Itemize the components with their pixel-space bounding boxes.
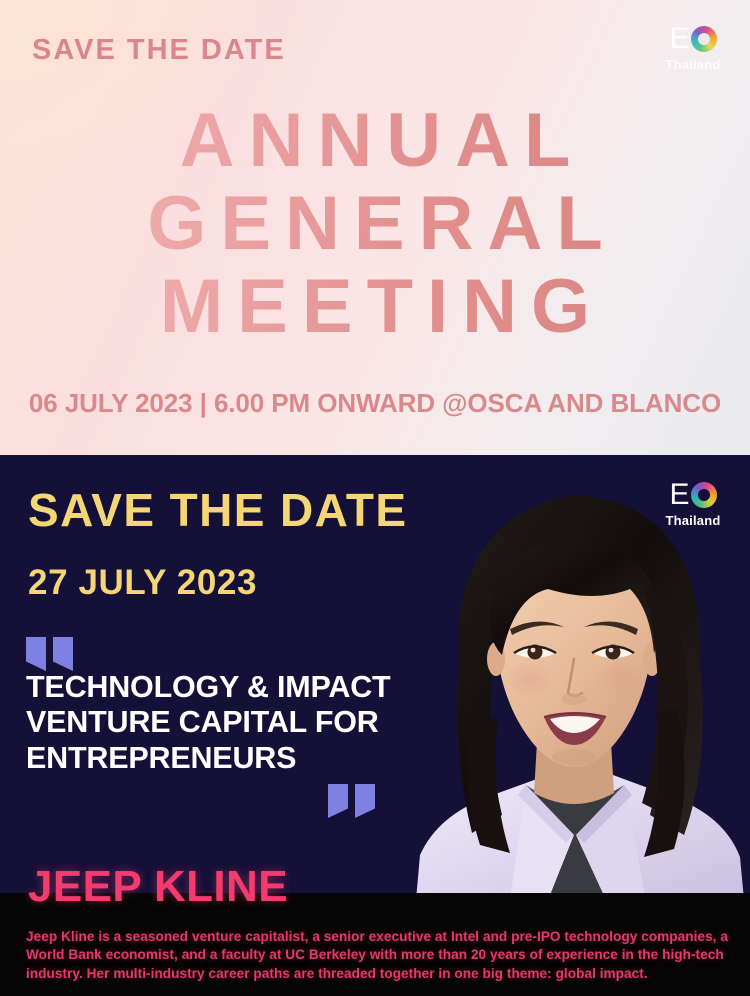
talk-title-line-2: VENTURE CAPITAL FOR [26, 705, 456, 740]
event-details-text-top: 06 JULY 2023 | 6.00 PM ONWARD @OSCA AND … [0, 388, 750, 419]
eo-thailand-logo-top: E Thailand [658, 22, 728, 72]
logo-mark-top: E [658, 22, 728, 56]
talk-title: TECHNOLOGY & IMPACT VENTURE CAPITAL FOR … [26, 670, 456, 776]
poster-canvas: SAVE THE DATE ANNUAL GENERAL MEETING 06 … [0, 0, 750, 996]
logo-wordmark-thailand: Thailand [658, 513, 728, 528]
logo-letter-e-icon: E [669, 24, 689, 54]
logo-mark-bottom: E [658, 478, 728, 512]
quote-open-icon [26, 637, 73, 671]
event-date-text: 27 JULY 2023 [28, 565, 257, 600]
speaker-bio-text: Jeep Kline is a seasoned venture capital… [26, 928, 732, 983]
talk-title-line-1: TECHNOLOGY & IMPACT [26, 670, 456, 705]
headline-line-general: GENERAL [0, 186, 750, 262]
eo-colorful-ring-icon [691, 482, 717, 508]
eo-colorful-ring-icon [691, 26, 717, 52]
speaker-name: JEEP KLINE [28, 865, 288, 909]
save-the-date-eyebrow-top: SAVE THE DATE [32, 34, 286, 67]
quote-close-stroke-1 [328, 784, 348, 818]
headline-line-meeting: MEETING [0, 269, 750, 345]
quote-open-stroke-2 [53, 637, 73, 671]
logo-wordmark-thailand: Thailand [658, 57, 728, 72]
quote-close-icon [328, 784, 375, 818]
save-the-date-eyebrow-bottom: SAVE THE DATE [28, 487, 407, 533]
agm-announcement-panel: SAVE THE DATE ANNUAL GENERAL MEETING 06 … [0, 0, 750, 455]
eo-thailand-logo-bottom: E Thailand [658, 478, 728, 528]
quote-close-stroke-2 [355, 784, 375, 818]
headline-line-annual: ANNUAL [0, 103, 750, 179]
quote-open-stroke-1 [26, 637, 46, 671]
logo-letter-e-icon: E [669, 480, 689, 510]
talk-title-line-3: ENTREPRENEURS [26, 741, 456, 776]
